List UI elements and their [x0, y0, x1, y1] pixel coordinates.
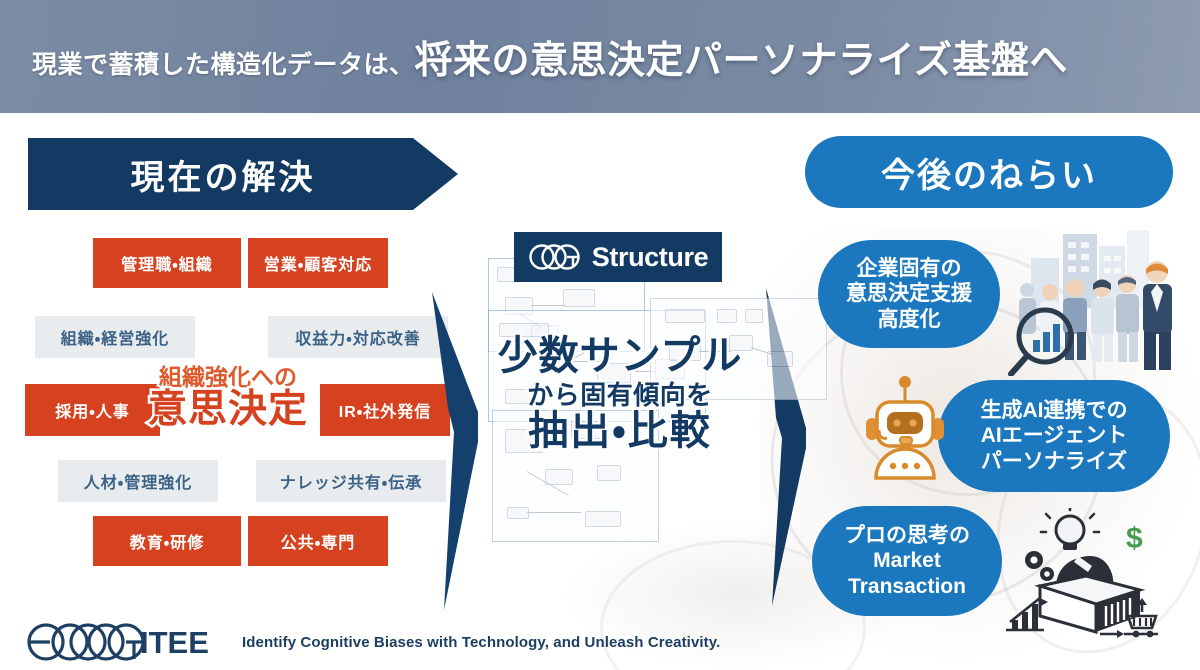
tag-item[interactable]: 公共・専門 — [248, 516, 388, 566]
center-caption: 少数サンプル から固有傾向を 抽出・比較 — [470, 336, 770, 452]
left-banner: 現在の解決 — [28, 138, 458, 210]
tag-item[interactable]: 管理職・組織 — [93, 238, 241, 288]
center-caption-line2: から固有傾向を — [470, 382, 770, 409]
svg-text:$: $ — [1126, 522, 1143, 555]
header-title: 現業で蓄積した構造化データは、 将来の意思決定パーソナライズ基盤へ — [0, 29, 1068, 84]
cogstructure-logo: Structure — [514, 232, 722, 282]
slide-root: 現業で蓄積した構造化データは、 将来の意思決定パーソナライズ基盤へ 現在の解決 … — [0, 0, 1200, 670]
cogstructure-wordmark: Structure — [592, 242, 708, 273]
goal-line: 高度化 — [878, 308, 941, 331]
goal-pill[interactable]: プロの思考の Market Transaction — [812, 506, 1002, 616]
header-band: 現業で蓄積した構造化データは、 将来の意思決定パーソナライズ基盤へ — [0, 0, 1200, 113]
goal-line: AIエージェント — [981, 424, 1128, 447]
tag-item[interactable]: 組織・経営強化 — [35, 316, 195, 358]
header-emphasis-text: 将来の意思決定パーソナライズ基盤へ — [415, 29, 1068, 84]
header-lead-text: 現業で蓄積した構造化データは、 — [32, 45, 415, 81]
decision-emphasis-line1: 組織強化への — [128, 366, 328, 389]
tag-item[interactable]: 人材・管理強化 — [58, 460, 218, 502]
tag-item[interactable]: 収益力・対応改善 — [268, 316, 448, 358]
center-caption-line1: 少数サンプル — [470, 336, 770, 378]
left-banner-label: 現在の解決 — [131, 150, 356, 199]
decision-emphasis-line2: 意思決定 — [128, 390, 328, 429]
robot-icon — [862, 374, 948, 480]
goal-pill[interactable]: 企業固有の 意思決定支援 高度化 — [818, 240, 1000, 348]
goal-line: 意思決定支援 — [846, 282, 972, 305]
right-banner: 今後のねらい — [805, 136, 1173, 208]
goal-line: 生成AI連携での — [981, 399, 1128, 422]
tag-item[interactable]: IR・社外発信 — [320, 384, 450, 436]
right-banner-label: 今後のねらい — [881, 148, 1097, 197]
decision-emphasis: 組織強化への 意思決定 — [128, 366, 328, 429]
svg-text:ITEE: ITEE — [140, 625, 209, 660]
goal-pill[interactable]: 生成AI連携での AIエージェント パーソナライズ — [938, 380, 1170, 492]
tag-item[interactable]: 営業・顧客対応 — [248, 238, 388, 288]
center-column: Structure 少数サンプル から固有傾向を 抽出・比較 — [470, 228, 770, 528]
goal-line: Market — [873, 549, 941, 572]
cognitee-logo-icon: ITEE — [26, 622, 216, 662]
goal-line: プロの思考の — [844, 524, 970, 547]
business-people-icon — [1005, 228, 1195, 376]
goal-line: 企業固有の — [857, 257, 962, 280]
tag-item[interactable]: 教育・研修 — [93, 516, 241, 566]
center-caption-line3: 抽出・比較 — [470, 411, 770, 453]
footer-tagline: Identify Cognitive Biases with Technolog… — [242, 634, 720, 651]
goal-line: Transaction — [848, 575, 966, 598]
tag-item[interactable]: ナレッジ共有・伝承 — [256, 460, 446, 502]
market-box-icon: $ — [1000, 508, 1170, 638]
goal-line: パーソナライズ — [981, 450, 1127, 473]
cog-circles-icon — [528, 242, 590, 272]
